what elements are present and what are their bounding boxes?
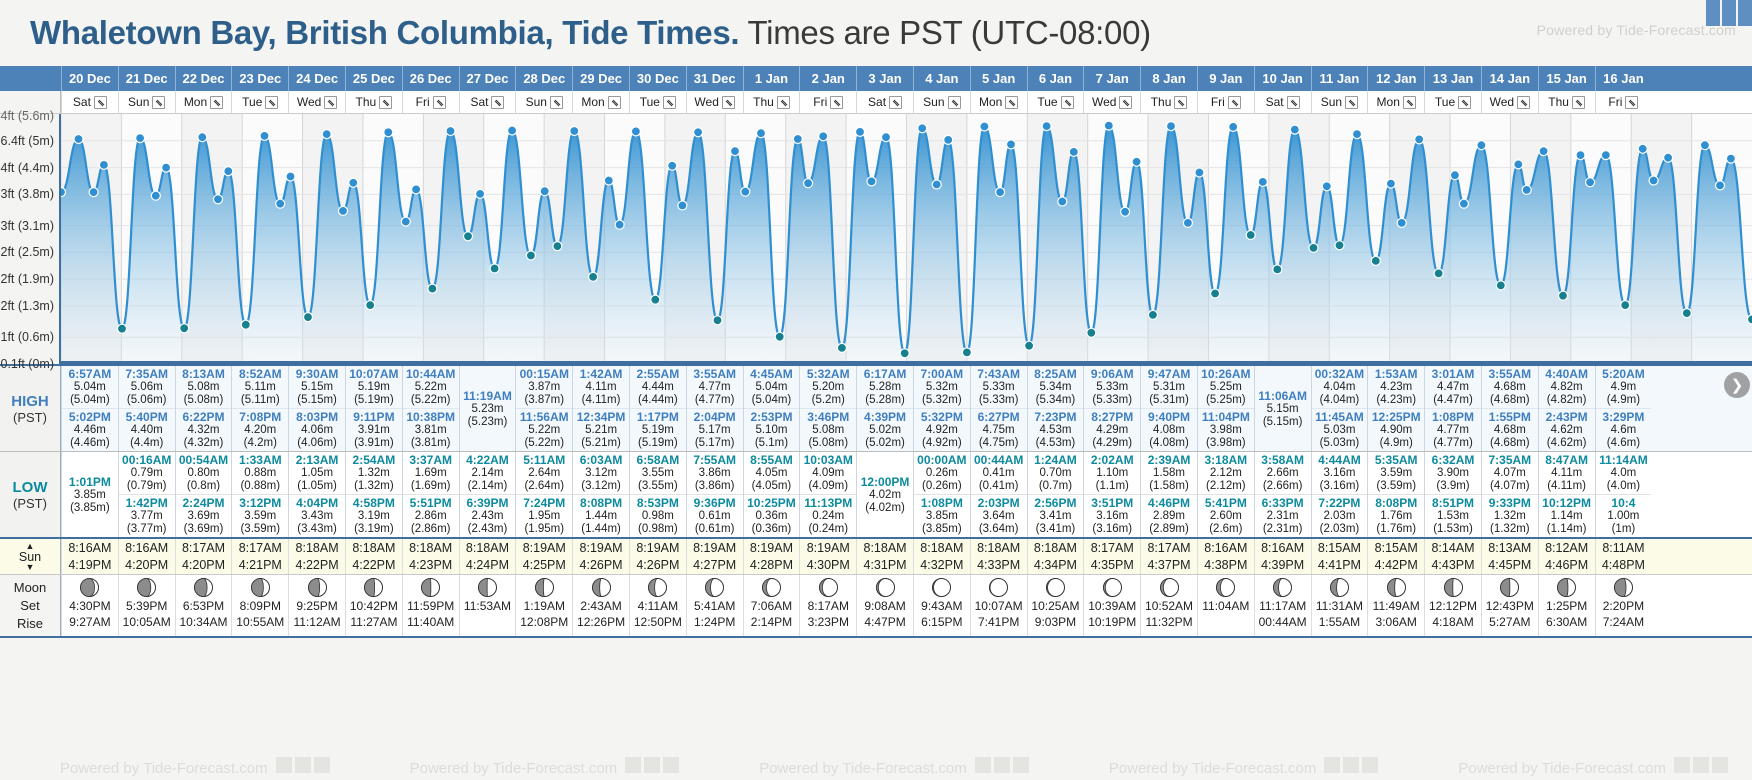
date-header-cell[interactable]: 27 Dec	[459, 66, 516, 91]
tide-time: 2:03PM	[971, 496, 1027, 510]
moonrise-time: 00:44AM	[1259, 614, 1307, 630]
tide-height: 5.02m	[857, 424, 913, 437]
sunset-time: 4:41PM	[1318, 557, 1361, 574]
tide-height-alt: (0.88m)	[232, 480, 288, 493]
tide-height-alt: (4.9m)	[1368, 437, 1424, 450]
tide-event: 4:45AM5.04m(5.04m)	[744, 366, 800, 408]
tide-height: 5.08m	[800, 424, 856, 437]
tide-event: 3:51PM3.16m(3.16m)	[1084, 494, 1140, 537]
date-header-cell[interactable]: 29 Dec	[572, 66, 629, 91]
expand-day-icon[interactable]	[830, 96, 843, 109]
tide-event: 2:24PM3.69m(3.69m)	[176, 494, 232, 537]
tide-time: 3:55AM	[1482, 367, 1538, 381]
moonrise-time: 9:27AM	[69, 614, 110, 630]
tide-time: 2:56PM	[1028, 496, 1084, 510]
tide-event: 2:03PM3.64m(3.64m)	[971, 494, 1027, 537]
moon-cell: 12:43PM5:27AM	[1481, 575, 1538, 636]
date-header-cell[interactable]: 20 Dec	[61, 66, 118, 91]
sunset-time: 4:21PM	[239, 557, 282, 574]
day-name-label: Tue	[1037, 95, 1057, 109]
tide-event: 11:19AM5.23m(5.23m)	[460, 388, 516, 430]
tide-event: 10:07AM5.19m(5.19m)	[346, 366, 402, 408]
tide-time: 4:45AM	[744, 367, 800, 381]
expand-day-icon[interactable]	[152, 96, 165, 109]
expand-day-icon[interactable]	[265, 96, 278, 109]
date-header-cell[interactable]: 21 Dec	[118, 66, 175, 91]
tide-height-alt: (3.9m)	[1425, 480, 1481, 493]
tide-height-alt: (4.68m)	[1482, 437, 1538, 450]
tide-height: 5.19m	[630, 424, 686, 437]
day-name-cell: Sun	[1311, 91, 1368, 113]
tide-time: 9:33PM	[1482, 496, 1538, 510]
date-header-cell[interactable]: 1 Jan	[743, 66, 800, 91]
tide-height-alt: (3.55m)	[630, 480, 686, 493]
tide-height-alt: (3.85m)	[914, 523, 970, 536]
tide-height: 4.9m	[1596, 381, 1652, 394]
sunset-time: 4:32PM	[920, 557, 963, 574]
tide-time: 9:36PM	[687, 496, 743, 510]
date-header-cell[interactable]: 22 Dec	[175, 66, 232, 91]
watermark-text: Powered by Tide-Forecast.com	[1109, 757, 1379, 777]
day-name-cell: Fri	[402, 91, 459, 113]
tide-time: 1:33AM	[232, 453, 288, 467]
moonset-time: 2:43AM	[580, 598, 621, 614]
date-header-cell[interactable]: 15 Jan	[1538, 66, 1595, 91]
tide-event: 11:06AM5.15m(5.15m)	[1255, 388, 1311, 430]
low-tide-cells: 1:01PM3.85m(3.85m)00:16AM0.79m(0.79m)1:4…	[61, 452, 1752, 537]
day-name-label: Sat	[868, 95, 886, 109]
tide-height: 5.28m	[857, 381, 913, 394]
date-header-cell[interactable]: 12 Jan	[1367, 66, 1424, 91]
tide-height-alt: (5.2m)	[800, 394, 856, 407]
tide-time: 00:44AM	[971, 453, 1027, 467]
tide-height-alt: (2.64m)	[516, 480, 572, 493]
expand-day-icon[interactable]	[1345, 96, 1358, 109]
tide-height: 5.33m	[1084, 381, 1140, 394]
tide-height-alt: (5.25m)	[1198, 394, 1254, 407]
high-tide-cell: 00:32AM4.04m(4.04m)11:45AM5.03m(5.03m)	[1311, 366, 1368, 451]
tide-height-alt: (5.32m)	[914, 394, 970, 407]
sun-cell: 8:17AM4:20PM	[175, 539, 232, 574]
tide-height: 2.64m	[516, 467, 572, 480]
expand-day-icon[interactable]	[722, 96, 735, 109]
tide-time: 12:00PM	[857, 475, 913, 489]
day-name-label: Sat	[470, 95, 488, 109]
tide-height: 0.36m	[744, 510, 800, 523]
tide-height: 4.20m	[232, 424, 288, 437]
tide-event: 3:18AM2.12m(2.12m)	[1198, 452, 1254, 494]
expand-day-icon[interactable]	[1228, 96, 1241, 109]
moonset-time: 4:11AM	[638, 598, 678, 614]
date-header-cell[interactable]: 25 Dec	[345, 66, 402, 91]
low-tide-cell: 2:13AM1.05m(1.05m)4:04PM3.43m(3.43m)	[288, 452, 345, 537]
next-days-button[interactable]: ❯	[1724, 372, 1750, 398]
tide-event: 5:11AM2.64m(2.64m)	[516, 452, 572, 494]
tide-height-alt: (0.26m)	[914, 480, 970, 493]
watermark-text: Powered by Tide-Forecast.com	[60, 757, 330, 777]
tide-event: 10:38PM3.81m(3.81m)	[403, 408, 459, 451]
moonset-time: 9:08AM	[864, 598, 905, 614]
sunset-time: 4:28PM	[750, 557, 793, 574]
sun-cell: 8:16AM4:38PM	[1197, 539, 1254, 574]
expand-day-icon[interactable]	[889, 96, 902, 109]
high-label: HIGH	[11, 393, 49, 410]
day-name-cell: Sun	[515, 91, 572, 113]
footer-watermark-strip: Powered by Tide-Forecast.comPowered by T…	[0, 754, 1752, 780]
tide-height: 2.86m	[403, 510, 459, 523]
tide-height: 1.32m	[346, 467, 402, 480]
tide-event: 7:00AM5.32m(5.32m)	[914, 366, 970, 408]
day-name-cell: Mon	[175, 91, 232, 113]
tide-event: 1:24AM0.70m(0.7m)	[1028, 452, 1084, 494]
brand-icon-1	[276, 757, 292, 773]
date-header-cell[interactable]: 26 Dec	[402, 66, 459, 91]
date-header-cell[interactable]: 6 Jan	[1027, 66, 1084, 91]
tide-event: 4:39PM5.02m(5.02m)	[857, 408, 913, 451]
sunset-time: 4:26PM	[580, 557, 623, 574]
high-tide-cell: 5:32AM5.20m(5.2m)3:46PM5.08m(5.08m)	[799, 366, 856, 451]
date-header-cell[interactable]: 8 Jan	[1140, 66, 1197, 91]
high-tide-cell: 3:55AM4.77m(4.77m)2:04PM5.17m(5.17m)	[686, 366, 743, 451]
tide-time: 2:02AM	[1084, 453, 1140, 467]
moonrise-time: 4:18AM	[1432, 614, 1473, 630]
tide-event: 4:46PM2.89m(2.89m)	[1141, 494, 1197, 537]
high-tide-cell: 4:45AM5.04m(5.04m)2:53PM5.10m(5.1m)	[743, 366, 800, 451]
sun-cell: 8:18AM4:34PM	[1027, 539, 1084, 574]
tide-event: 12:00PM4.02m(4.02m)	[857, 474, 913, 516]
tide-event: 1:17PM5.19m(5.19m)	[630, 408, 686, 451]
tide-height: 4.05m	[744, 467, 800, 480]
sun-cell: 8:17AM4:21PM	[231, 539, 288, 574]
sunrise-time: 8:18AM	[466, 540, 509, 557]
date-header-cell[interactable]: 7 Jan	[1083, 66, 1140, 91]
sunrise-time: 8:19AM	[750, 540, 793, 557]
tide-height-alt: (2.6m)	[1198, 523, 1254, 536]
tide-event: 00:54AM0.80m(0.8m)	[176, 452, 232, 494]
day-name-cell: Fri	[1595, 91, 1652, 113]
tide-time: 7:55AM	[687, 453, 743, 467]
expand-day-icon[interactable]	[1119, 96, 1132, 109]
tide-height-alt: (0.7m)	[1028, 480, 1084, 493]
tide-time: 9:11PM	[346, 410, 402, 424]
expand-day-icon[interactable]	[608, 96, 621, 109]
tide-height-alt: (5.02m)	[857, 437, 913, 450]
day-name-cell: Wed	[1481, 91, 1538, 113]
high-tide-cell: 10:44AM5.22m(5.22m)10:38PM3.81m(3.81m)	[402, 366, 459, 451]
moon-phase-icon	[421, 578, 440, 597]
moon-row-label: Moon Set Rise	[0, 575, 61, 636]
tide-height-alt: (2.89m)	[1141, 523, 1197, 536]
tide-time: 3:12PM	[232, 496, 288, 510]
tide-time: 3:01AM	[1425, 367, 1481, 381]
tide-height: 5.19m	[346, 381, 402, 394]
high-tide-cell: 5:20AM4.9m(4.9m)3:29PM4.6m(4.6m)	[1595, 366, 1652, 451]
tide-event: 7:35AM5.06m(5.06m)	[119, 366, 175, 408]
tide-height-alt: (5.15m)	[1255, 416, 1311, 429]
moonrise-time: 12:50PM	[634, 614, 682, 630]
tide-height-alt: (4.46m)	[62, 437, 118, 450]
tide-time: 11:13PM	[800, 496, 856, 510]
tide-height: 4.6m	[1596, 424, 1652, 437]
tide-time: 10:12PM	[1539, 496, 1595, 510]
sun-cell: 8:18AM4:22PM	[288, 539, 345, 574]
tide-height-alt: (1.44m)	[573, 523, 629, 536]
tide-event: 1:42AM4.11m(4.11m)	[573, 366, 629, 408]
tide-height: 2.14m	[460, 467, 516, 480]
tide-height: 5.32m	[914, 381, 970, 394]
tide-height-alt: (4.04m)	[1312, 394, 1368, 407]
tide-time: 1:55PM	[1482, 410, 1538, 424]
tide-height: 5.22m	[516, 424, 572, 437]
tide-height-alt: (2.86m)	[403, 523, 459, 536]
tide-height-alt: (0.8m)	[176, 480, 232, 493]
expand-day-icon[interactable]	[550, 96, 563, 109]
sunset-time: 4:23PM	[409, 557, 452, 574]
tide-event: 8:08PM1.76m(1.76m)	[1368, 494, 1424, 537]
high-tide-cell: 10:07AM5.19m(5.19m)9:11PM3.91m(3.91m)	[345, 366, 402, 451]
moonrise-time: 10:55AM	[236, 614, 284, 630]
high-tide-cell: 8:52AM5.11m(5.11m)7:08PM4.20m(4.2m)	[231, 366, 288, 451]
y-axis-tick-label: 6.2ft (1.9m)	[0, 272, 54, 286]
moon-cell: 10:07AM7:41PM	[970, 575, 1027, 636]
moon-phase-icon	[762, 578, 781, 597]
y-axis-tick-label: 12.3ft (3.8m)	[0, 187, 54, 201]
sunrise-time: 8:17AM	[1091, 540, 1134, 557]
date-header-cell[interactable]: 4 Jan	[913, 66, 970, 91]
expand-day-icon[interactable]	[948, 96, 961, 109]
tide-time: 3:58AM	[1255, 453, 1311, 467]
date-header-cell[interactable]: 24 Dec	[288, 66, 345, 91]
expand-day-icon[interactable]	[433, 96, 446, 109]
moon-cell: 11:49AM3:06AM	[1367, 575, 1424, 636]
expand-day-icon[interactable]	[1005, 96, 1018, 109]
tide-event: 3:12PM3.59m(3.59m)	[232, 494, 288, 537]
tide-time: 2:53PM	[744, 410, 800, 424]
expand-day-icon[interactable]	[491, 96, 504, 109]
moonset-time: 10:39AM	[1088, 598, 1136, 614]
tide-height-alt: (1.69m)	[403, 480, 459, 493]
tide-event: 4:04PM3.43m(3.43m)	[289, 494, 345, 537]
tide-time: 8:53PM	[630, 496, 686, 510]
tide-event: 6:58AM3.55m(3.55m)	[630, 452, 686, 494]
expand-day-icon[interactable]	[1458, 96, 1471, 109]
low-tide-cell: 3:37AM1.69m(1.69m)5:51PM2.86m(2.86m)	[402, 452, 459, 537]
tide-height: 4.08m	[1141, 424, 1197, 437]
moon-phase-icon	[1557, 578, 1576, 597]
moonset-time: 5:39PM	[126, 598, 167, 614]
tide-time: 4:58PM	[346, 496, 402, 510]
tide-time: 11:04PM	[1198, 410, 1254, 424]
high-tide-cell: 11:06AM5.15m(5.15m)	[1254, 366, 1311, 451]
moon-cell: 12:12PM4:18AM	[1424, 575, 1481, 636]
day-name-label: Thu	[1548, 95, 1569, 109]
expand-day-icon[interactable]	[663, 96, 676, 109]
tide-height: 5.10m	[744, 424, 800, 437]
sun-cell: 8:18AM4:32PM	[913, 539, 970, 574]
tide-event: 5:40PM4.40m(4.4m)	[119, 408, 175, 451]
high-tide-cell: 9:30AM5.15m(5.15m)8:03PM4.06m(4.06m)	[288, 366, 345, 451]
tide-height: 3.98m	[1198, 424, 1254, 437]
moonset-time: 9:25PM	[296, 598, 337, 614]
tide-height-alt: (4.02m)	[857, 502, 913, 515]
tide-height-alt: (0.41m)	[971, 480, 1027, 493]
tide-height: 4.77m	[687, 381, 743, 394]
expand-day-icon[interactable]	[1174, 96, 1187, 109]
tide-event: 1:01PM3.85m(3.85m)	[62, 474, 118, 516]
moon-phase-icon	[989, 578, 1008, 597]
tide-height: 1.53m	[1425, 510, 1481, 523]
sun-cell: 8:17AM4:37PM	[1140, 539, 1197, 574]
tide-height: 2.43m	[460, 510, 516, 523]
date-header-cell[interactable]: 11 Jan	[1311, 66, 1368, 91]
refresh-icon	[994, 757, 1010, 773]
sunrise-time: 8:19AM	[523, 540, 566, 557]
date-header-row: 20 Dec21 Dec22 Dec23 Dec24 Dec25 Dec26 D…	[0, 66, 1752, 91]
chart-y-axis: 16.4ft (5m)14.4ft (4.4m)12.3ft (3.8m)10.…	[0, 114, 61, 364]
tide-height: 1.58m	[1141, 467, 1197, 480]
moonrise-time: 7:41PM	[978, 614, 1019, 630]
tide-height-alt: (3.85m)	[62, 502, 118, 515]
expand-day-icon[interactable]	[1287, 96, 1300, 109]
moon-cell: 4:30PM9:27AM	[61, 575, 118, 636]
tide-time: 3:51PM	[1084, 496, 1140, 510]
expand-day-icon[interactable]	[1572, 96, 1585, 109]
date-header-cell[interactable]: 5 Jan	[970, 66, 1027, 91]
moonrise-time: 10:19PM	[1088, 614, 1136, 630]
tide-height-alt: (0.98m)	[630, 523, 686, 536]
tide-height: 3.77m	[119, 510, 175, 523]
date-header-cell[interactable]: 23 Dec	[231, 66, 288, 91]
tide-height-alt: (4.08m)	[1141, 437, 1197, 450]
tide-event: 7:22PM2.03m(2.03m)	[1312, 494, 1368, 537]
expand-day-icon[interactable]	[1061, 96, 1074, 109]
sun-row-label: ▲ Sun ▼	[0, 539, 61, 574]
moon-phase-icon	[1614, 578, 1633, 597]
expand-day-icon[interactable]	[210, 96, 223, 109]
tide-event: 9:11PM3.91m(3.91m)	[346, 408, 402, 451]
tide-height: 3.87m	[516, 381, 572, 394]
moonrise-time: 3:06AM	[1376, 614, 1417, 630]
moonrise-time: 12:26PM	[577, 614, 625, 630]
brand-icon-1	[625, 757, 641, 773]
tide-height: 5.06m	[119, 381, 175, 394]
moon-phase-icon	[1160, 578, 1179, 597]
day-name-cell: Sun	[913, 91, 970, 113]
tide-height: 3.69m	[176, 510, 232, 523]
date-header-cell[interactable]: 13 Jan	[1424, 66, 1481, 91]
day-name-cell: Wed	[686, 91, 743, 113]
high-tide-cell: 8:13AM5.08m(5.08m)6:22PM4.32m(4.32m)	[175, 366, 232, 451]
expand-day-icon[interactable]	[777, 96, 790, 109]
tide-height-alt: (3.16m)	[1312, 480, 1368, 493]
date-header-cell[interactable]: 16 Jan	[1595, 66, 1652, 91]
day-name-label: Thu	[356, 95, 377, 109]
expand-day-icon[interactable]	[94, 96, 107, 109]
tide-height-alt: (5.33m)	[1084, 394, 1140, 407]
moon-phase-icon	[932, 578, 951, 597]
moonrise-time: 6:30AM	[1546, 614, 1587, 630]
tide-height-alt: (3.98m)	[1198, 437, 1254, 450]
tide-height: 3.12m	[573, 467, 629, 480]
location-title: Whaletown Bay, British Columbia, Tide Ti…	[30, 14, 739, 51]
tide-time: 2:24PM	[176, 496, 232, 510]
tide-height-alt: (1.76m)	[1368, 523, 1424, 536]
refresh-icon	[1343, 757, 1359, 773]
date-header-cell[interactable]: 31 Dec	[686, 66, 743, 91]
expand-day-icon[interactable]	[324, 96, 337, 109]
moon-cell: 11:17AM00:44AM	[1254, 575, 1311, 636]
moonrise-time: 11:53AM	[464, 598, 511, 614]
moon-cell: 11:31AM1:55AM	[1311, 575, 1368, 636]
moonset-time: 10:07AM	[975, 598, 1023, 614]
expand-day-icon[interactable]	[1403, 96, 1416, 109]
tide-time: 6:39PM	[460, 496, 516, 510]
y-axis-tick-label: 0.1ft (0m)	[1, 357, 55, 371]
tide-height-alt: (1.32m)	[1482, 523, 1538, 536]
tide-event: 3:29PM4.6m(4.6m)	[1596, 408, 1652, 451]
watermark-icons	[625, 757, 679, 773]
tide-height: 2.89m	[1141, 510, 1197, 523]
tide-height: 4.04m	[1312, 381, 1368, 394]
sunrise-time: 8:19AM	[693, 540, 736, 557]
date-header-cell[interactable]: 2 Jan	[799, 66, 856, 91]
date-header-cell[interactable]: 14 Jan	[1481, 66, 1538, 91]
tide-time: 8:27PM	[1084, 410, 1140, 424]
sunrise-time: 8:16AM	[125, 540, 168, 557]
sunset-time: 4:37PM	[1147, 557, 1190, 574]
expand-day-icon[interactable]	[1517, 96, 1530, 109]
sun-cell: 8:14AM4:43PM	[1424, 539, 1481, 574]
sun-cell: 8:18AM4:31PM	[856, 539, 913, 574]
expand-day-icon[interactable]	[379, 96, 392, 109]
tide-time: 9:30AM	[289, 367, 345, 381]
date-header-cell[interactable]: 3 Jan	[856, 66, 913, 91]
tide-height: 5.21m	[573, 424, 629, 437]
day-name-label: Wed	[1490, 95, 1514, 109]
tide-time: 3:18AM	[1198, 453, 1254, 467]
tide-height: 1.76m	[1368, 510, 1424, 523]
low-tide-cell: 11:14AM4.0m(4.0m)10:41.00m(1m)	[1595, 452, 1652, 537]
tide-height: 0.79m	[119, 467, 175, 480]
tide-height: 5.25m	[1198, 381, 1254, 394]
tide-event: 8:13AM5.08m(5.08m)	[176, 366, 232, 408]
tide-event: 4:58PM3.19m(3.19m)	[346, 494, 402, 537]
tide-time: 11:14AM	[1596, 453, 1652, 467]
tide-time: 8:51PM	[1425, 496, 1481, 510]
date-header-cell[interactable]: 10 Jan	[1254, 66, 1311, 91]
day-name-cell: Thu	[1538, 91, 1595, 113]
date-header-cell[interactable]: 28 Dec	[515, 66, 572, 91]
tide-height-alt: (4.62m)	[1539, 437, 1595, 450]
tide-time: 4:39PM	[857, 410, 913, 424]
day-name-cell: Thu	[345, 91, 402, 113]
tide-chart: 16.4ft (5m)14.4ft (4.4m)12.3ft (3.8m)10.…	[0, 114, 1752, 364]
y-axis-tick-label: 8.2ft (2.5m)	[0, 245, 54, 259]
expand-day-icon[interactable]	[1625, 96, 1638, 109]
sunset-time: 4:48PM	[1602, 557, 1645, 574]
tide-event: 8:27PM4.29m(4.29m)	[1084, 408, 1140, 451]
tide-height-alt: (4.06m)	[289, 437, 345, 450]
date-header-cell[interactable]: 30 Dec	[629, 66, 686, 91]
high-tz-label: (PST)	[13, 410, 47, 425]
low-tide-cell: 6:32AM3.90m(3.9m)8:51PM1.53m(1.53m)	[1424, 452, 1481, 537]
date-header-cell[interactable]: 9 Jan	[1197, 66, 1254, 91]
brand-icon-1	[975, 757, 991, 773]
tide-event: 9:47AM5.31m(5.31m)	[1141, 366, 1197, 408]
tide-height: 1.10m	[1084, 467, 1140, 480]
tide-height: 2.60m	[1198, 510, 1254, 523]
tide-time: 5:11AM	[516, 453, 572, 467]
